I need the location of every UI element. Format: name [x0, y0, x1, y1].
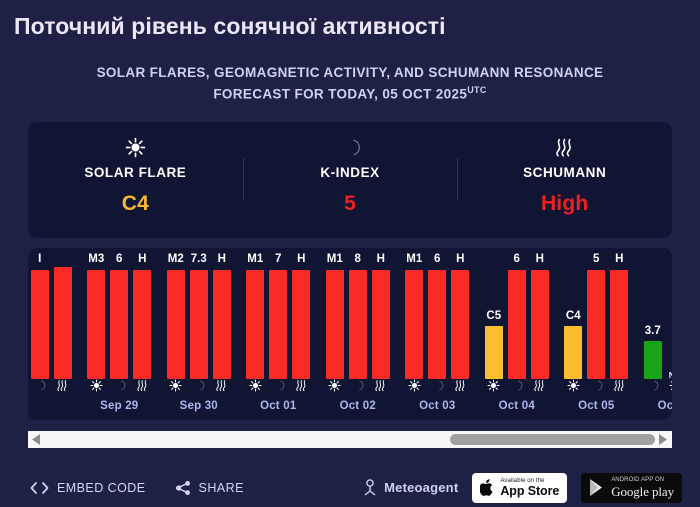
embed-code-label: EMBED CODE: [57, 481, 146, 495]
icon-slot-k-index: [110, 379, 128, 392]
metric-icons-row: [477, 379, 557, 392]
bar-slot-k-index[interactable]: 7: [269, 254, 287, 379]
bar-slot-k-index[interactable]: 7.3: [190, 254, 208, 379]
bar-k-index[interactable]: [31, 270, 49, 380]
share-button[interactable]: SHARE: [176, 481, 244, 495]
summary-card: SOLAR FLAREC4K-INDEX5SCHUMANNHigh: [28, 122, 672, 238]
icon-slot-solar-flare: [246, 379, 264, 392]
icon-slot-schumann: [531, 379, 549, 392]
summary-value: 5: [344, 192, 356, 216]
metric-icons-row: [318, 379, 398, 392]
bar-k-index[interactable]: [508, 270, 526, 380]
chart-date-label: Oct 01: [239, 400, 319, 412]
bars-row: M36H: [80, 254, 160, 379]
share-label: SHARE: [199, 481, 244, 495]
app-store-big-label: App Store: [500, 485, 559, 498]
bar-solar-flare[interactable]: [167, 270, 185, 380]
schumann-waves-icon-wrap: [554, 135, 575, 159]
icon-slot-schumann: [213, 379, 231, 392]
google-play-big-label: Google play: [611, 485, 674, 498]
schumann-waves-icon: [454, 379, 467, 392]
forecast-subtitle: SOLAR FLARES, GEOMAGNETIC ACTIVITY, AND …: [0, 63, 700, 105]
chart-date-label: Oct 06: [636, 400, 672, 412]
bar-value: M2: [168, 254, 184, 266]
bar-schumann[interactable]: [451, 270, 469, 380]
bar-solar-flare[interactable]: [485, 326, 503, 379]
schumann-waves-icon: [554, 137, 575, 158]
meteoagent-brand[interactable]: Meteoagent: [363, 479, 458, 496]
sun-icon: [90, 379, 103, 392]
chart-date-label: Sep 29: [80, 400, 160, 412]
triangle-right-icon: [659, 434, 668, 445]
sun-icon: [487, 379, 500, 392]
summary-label: K-INDEX: [320, 165, 379, 180]
apple-icon: [480, 478, 495, 497]
meteoagent-logo-icon: [363, 479, 377, 496]
bar-value: H: [615, 254, 623, 266]
bar-value: C5: [486, 311, 501, 323]
bar-value: 3.7: [645, 326, 661, 338]
icon-slot-k-index: [508, 379, 526, 392]
icon-slot-schumann: [451, 379, 469, 392]
subtitle-line-2: FORECAST FOR TODAY, 05 OCT 2025: [213, 86, 467, 101]
footer-brand-area: Meteoagent Available on the App Store AN…: [363, 473, 682, 503]
summary-label: SOLAR FLARE: [84, 165, 186, 180]
moon-icon: [590, 379, 603, 392]
icon-slot-solar-flare: [167, 379, 185, 392]
bar-k-index[interactable]: [428, 270, 446, 380]
app-store-badge[interactable]: Available on the App Store: [472, 473, 567, 503]
bar-value: M1: [327, 254, 343, 266]
chart-day-group[interactable]: M16HOct 03: [398, 248, 478, 420]
bar-value: H: [218, 254, 226, 266]
summary-value: High: [541, 192, 588, 216]
bar-value: 7.3: [191, 254, 207, 266]
metric-icons-row: [557, 379, 637, 392]
google-play-text: ANDROID APP ON Google play: [611, 477, 674, 498]
app-store-small-label: Available on the: [500, 478, 559, 484]
triangle-left-icon: [32, 434, 41, 445]
scrollbar-right-arrow[interactable]: [655, 431, 672, 448]
metric-icons-row: [398, 379, 478, 392]
schumann-waves-icon: [613, 379, 626, 392]
bar-slot-k-index[interactable]: I: [31, 254, 49, 379]
bars-row: I: [28, 254, 80, 379]
bars-row: M27.3H: [159, 254, 239, 379]
bars-row: C45H: [557, 254, 637, 379]
bar-schumann[interactable]: [372, 270, 390, 380]
bar-slot-solar-flare[interactable]: C5: [485, 254, 503, 379]
moon-icon: [351, 379, 364, 392]
chart-date-label: Oct 04: [477, 400, 557, 412]
chart-day-group[interactable]: M27.3HSep 30: [159, 248, 239, 420]
bar-value: 6: [514, 254, 520, 266]
bar-slot-schumann[interactable]: H: [213, 254, 231, 379]
metric-icons-row: [159, 379, 239, 392]
moon-icon: [510, 379, 523, 392]
chart-day-group[interactable]: C56HOct 04: [477, 248, 557, 420]
bar-solar-flare[interactable]: [326, 270, 344, 380]
metric-icons-row: [80, 379, 160, 392]
summary-value: C4: [122, 192, 149, 216]
icon-slot-solar-flare: [564, 379, 582, 392]
summary-label: SCHUMANN: [523, 165, 606, 180]
metric-icons-row: [28, 379, 80, 392]
metric-icons-row: [239, 379, 319, 392]
chart-day-group[interactable]: M17HOct 01: [239, 248, 319, 420]
subtitle-utc-sup: UTC: [467, 85, 486, 95]
bar-slot-solar-flare[interactable]: M1: [326, 254, 344, 379]
bar-slot-schumann[interactable]: H: [133, 254, 151, 379]
scrollbar-left-arrow[interactable]: [28, 431, 45, 448]
bar-slot-schumann[interactable]: H: [292, 254, 310, 379]
bar-slot-k-index[interactable]: 5: [587, 254, 605, 379]
bar-slot-solar-flare[interactable]: M1: [246, 254, 264, 379]
bar-value: H: [138, 254, 146, 266]
bar-k-index[interactable]: [190, 270, 208, 380]
sun-icon: [169, 379, 182, 392]
bar-value-na: N/A: [669, 371, 672, 380]
schumann-waves-icon: [374, 379, 387, 392]
chart-date-label: Sep 30: [159, 400, 239, 412]
bar-value: 6: [116, 254, 122, 266]
code-brackets-icon: [30, 482, 49, 494]
chart-day-group[interactable]: 3.7N/AN/AOct 06: [636, 248, 672, 420]
bar-value: H: [377, 254, 385, 266]
bar-value: M1: [406, 254, 422, 266]
bar-k-index[interactable]: [587, 270, 605, 380]
bar-slot-k-index[interactable]: 3.7: [644, 254, 662, 379]
summary-cell-solar-flare: SOLAR FLAREC4: [28, 122, 243, 238]
bar-value: H: [536, 254, 544, 266]
summary-cell-k-index: K-INDEX5: [243, 122, 458, 238]
bars-row: M16H: [398, 254, 478, 379]
bar-k-index[interactable]: [269, 270, 287, 380]
sun-icon: [408, 379, 421, 392]
share-nodes-icon: [176, 481, 191, 495]
bar-schumann[interactable]: [213, 270, 231, 380]
bar-slot-solar-flare[interactable]: C4: [564, 254, 582, 379]
page-title: Поточний рівень сонячної активності: [0, 0, 700, 41]
chart-day-group[interactable]: M18HOct 02: [318, 248, 398, 420]
bar-value: 7: [275, 254, 281, 266]
icon-slot-solar-flare: [87, 379, 105, 392]
moon-icon: [192, 379, 205, 392]
bars-row: 3.7N/AN/A: [636, 254, 672, 379]
bar-value: 6: [434, 254, 440, 266]
chart-day-group[interactable]: ISep 28: [28, 248, 80, 420]
moon-icon: [113, 379, 126, 392]
play-triangle-icon: [589, 478, 606, 497]
bar-slot-schumann[interactable]: H: [451, 254, 469, 379]
bar-slot-k-index[interactable]: 8: [349, 254, 367, 379]
bars-row: M18H: [318, 254, 398, 379]
bar-slot-solar-flare[interactable]: N/A: [667, 254, 672, 379]
bars-row: C56H: [477, 254, 557, 379]
chart-day-group[interactable]: C45HOct 05: [557, 248, 637, 420]
bar-k-index[interactable]: [349, 270, 367, 380]
icon-slot-k-index: [190, 379, 208, 392]
chart-scroll-content[interactable]: ISep 28M36HSep 29M27.3HSep 30M17HOct 01M…: [28, 248, 672, 420]
bars-row: M17H: [239, 254, 319, 379]
icon-slot-k-index: [269, 379, 287, 392]
bar-value: H: [297, 254, 305, 266]
bar-value: H: [456, 254, 464, 266]
bar-slot-schumann[interactable]: H: [610, 254, 628, 379]
icon-slot-k-index: [31, 379, 49, 392]
sun-icon: [249, 379, 262, 392]
summary-row: SOLAR FLAREC4K-INDEX5SCHUMANNHigh: [28, 122, 672, 238]
chart-date-label: Oct 03: [398, 400, 478, 412]
bar-k-index[interactable]: [644, 341, 662, 379]
bar-slot-solar-flare[interactable]: M2: [167, 254, 185, 379]
icon-slot-k-index: [349, 379, 367, 392]
chart-date-label: Oct 02: [318, 400, 398, 412]
footer-actions: EMBED CODE SHARE: [30, 481, 244, 495]
icon-slot-k-index: [428, 379, 446, 392]
schumann-waves-icon: [215, 379, 228, 392]
chart-horizontal-scrollbar[interactable]: [28, 431, 672, 448]
bar-schumann[interactable]: [610, 270, 628, 380]
bar-schumann[interactable]: [133, 270, 151, 380]
bar-slot-k-index[interactable]: 6: [428, 254, 446, 379]
icon-slot-schumann: [292, 379, 310, 392]
sun-icon: [567, 379, 580, 392]
scrollbar-track[interactable]: [45, 431, 655, 448]
brand-name-label: Meteoagent: [384, 480, 458, 495]
icon-slot-schumann: [133, 379, 151, 392]
schumann-waves-icon: [136, 379, 149, 392]
moon-icon: [646, 379, 659, 392]
bar-slot-solar-flare[interactable]: M1: [405, 254, 423, 379]
bar-slot-solar-flare[interactable]: M3: [87, 254, 105, 379]
icon-slot-solar-flare: [326, 379, 344, 392]
bar-value: M3: [88, 254, 104, 266]
moon-icon: [33, 379, 46, 392]
bar-k-index[interactable]: [110, 270, 128, 380]
moon-icon: [340, 137, 361, 158]
bar-solar-flare[interactable]: [246, 270, 264, 380]
icon-slot-schumann: [372, 379, 390, 392]
bar-schumann[interactable]: [292, 270, 310, 380]
icon-slot-solar-flare: [405, 379, 423, 392]
icon-slot-schumann: [54, 379, 72, 392]
bar-solar-flare[interactable]: [564, 326, 582, 379]
schumann-waves-icon: [56, 379, 69, 392]
bar-slot-schumann[interactable]: [54, 254, 72, 379]
icon-slot-solar-flare: [667, 379, 672, 392]
bar-schumann[interactable]: [54, 267, 72, 379]
app-store-text: Available on the App Store: [500, 478, 559, 498]
bar-value: M1: [247, 254, 263, 266]
icon-slot-schumann: [610, 379, 628, 392]
bar-slot-schumann[interactable]: H: [372, 254, 390, 379]
icon-slot-solar-flare: [485, 379, 503, 392]
chart-day-group[interactable]: M36HSep 29: [80, 248, 160, 420]
bar-value: 8: [355, 254, 361, 266]
schumann-waves-icon: [295, 379, 308, 392]
schumann-waves-icon: [533, 379, 546, 392]
bar-slot-k-index[interactable]: 6: [110, 254, 128, 379]
scrollbar-thumb[interactable]: [450, 434, 655, 445]
subtitle-line-1: SOLAR FLARES, GEOMAGNETIC ACTIVITY, AND …: [97, 65, 604, 80]
bar-solar-flare[interactable]: [87, 270, 105, 380]
google-play-small-label: ANDROID APP ON: [611, 477, 674, 483]
sun-icon: [125, 137, 146, 158]
moon-icon: [431, 379, 444, 392]
bar-slot-schumann[interactable]: H: [531, 254, 549, 379]
bar-slot-k-index[interactable]: 6: [508, 254, 526, 379]
sun-icon: [328, 379, 341, 392]
activity-chart-card[interactable]: ISep 28M36HSep 29M27.3HSep 30M17HOct 01M…: [28, 248, 672, 420]
bar-value: C4: [566, 311, 581, 323]
bar-solar-flare[interactable]: [405, 270, 423, 380]
moon-icon: [272, 379, 285, 392]
google-play-badge[interactable]: ANDROID APP ON Google play: [581, 473, 682, 503]
sun-icon: [669, 379, 672, 392]
embed-code-button[interactable]: EMBED CODE: [30, 481, 146, 495]
moon-icon-wrap: [340, 135, 361, 159]
sun-icon-wrap: [125, 135, 146, 159]
chart-date-label: Oct 05: [557, 400, 637, 412]
summary-cell-schumann: SCHUMANNHigh: [457, 122, 672, 238]
bar-schumann[interactable]: [531, 270, 549, 380]
metric-icons-row: [636, 379, 672, 392]
icon-slot-k-index: [644, 379, 662, 392]
icon-slot-k-index: [587, 379, 605, 392]
footer-bar: EMBED CODE SHARE Meteoagent: [0, 468, 700, 507]
bar-value: 5: [593, 254, 599, 266]
bar-value: I: [38, 254, 41, 266]
